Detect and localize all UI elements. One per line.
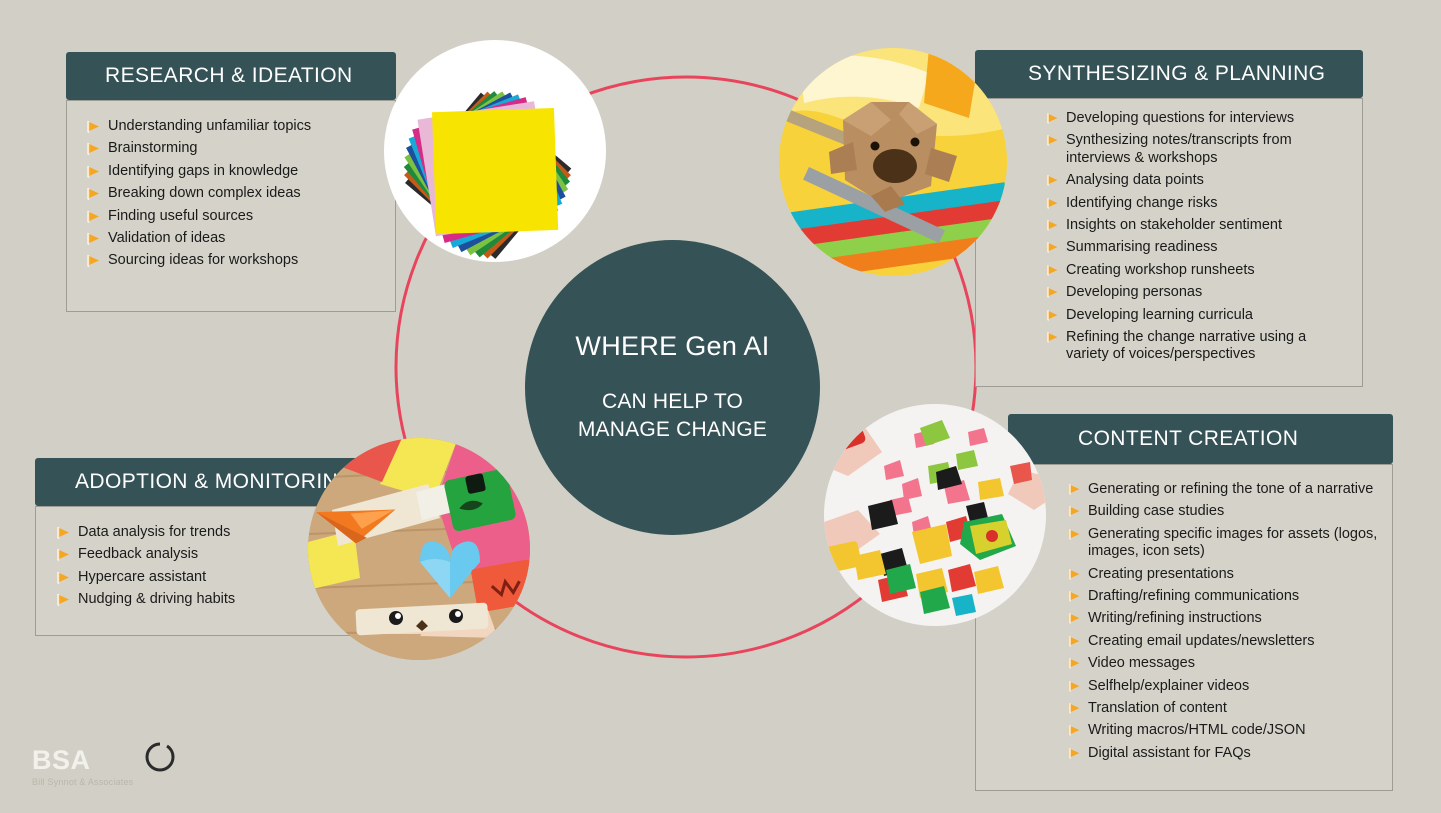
- list-item: Sourcing ideas for workshops: [86, 252, 386, 269]
- list-item-text: Identifying change risks: [1066, 195, 1218, 212]
- arrow-bullet-icon: [56, 571, 72, 585]
- list-item-text: Brainstorming: [108, 140, 197, 157]
- list-item: Identifying change risks: [1046, 195, 1346, 212]
- list-item-text: Insights on stakeholder sentiment: [1066, 217, 1282, 234]
- list-item-text: Digital assistant for FAQs: [1088, 745, 1251, 762]
- arrow-bullet-icon: [1068, 528, 1082, 541]
- hands-folding-origami-shapes-photo: [824, 404, 1046, 626]
- arrow-bullet-icon: [56, 526, 72, 540]
- list-item: Synthesizing notes/transcripts from inte…: [1046, 132, 1346, 167]
- arrow-bullet-icon: [1046, 134, 1060, 147]
- arrow-bullet-icon: [86, 254, 102, 268]
- arrow-bullet-icon: [1046, 286, 1060, 299]
- list-item: Creating workshop runsheets: [1046, 262, 1346, 279]
- list-item-text: Generating specific images for assets (l…: [1088, 526, 1388, 561]
- list-item: Nudging & driving habits: [56, 591, 346, 608]
- brown-paper-origami-bear-photo: [779, 48, 1007, 276]
- list-item: Writing macros/HTML code/JSON: [1068, 722, 1388, 739]
- list-item: Creating email updates/newsletters: [1068, 633, 1388, 650]
- list-item: Video messages: [1068, 655, 1388, 672]
- list-item-text: Data analysis for trends: [78, 524, 230, 541]
- arrow-bullet-icon: [86, 187, 102, 201]
- list-item-text: Validation of ideas: [108, 230, 225, 247]
- panel-synthesizing-header: SYNTHESIZING & PLANNING: [975, 50, 1363, 98]
- panel-research-title: RESEARCH & IDEATION: [105, 64, 353, 88]
- list-item-text: Identifying gaps in knowledge: [108, 163, 298, 180]
- panel-adoption-list: Data analysis for trends Feedback analys…: [56, 524, 346, 614]
- arrow-bullet-icon: [56, 548, 72, 562]
- list-item-text: Translation of content: [1088, 700, 1227, 717]
- photo-adoption-monitoring: [308, 438, 530, 660]
- infographic-canvas: RESEARCH & IDEATION Understanding unfami…: [0, 0, 1441, 813]
- photo-research-ideation: [384, 40, 606, 262]
- arrow-bullet-icon: [1068, 702, 1082, 715]
- list-item-text: Creating presentations: [1088, 566, 1234, 583]
- origami-paper-planes-on-desk-photo: [308, 438, 530, 660]
- arrow-bullet-icon: [1046, 241, 1060, 254]
- arrow-bullet-icon: [86, 210, 102, 224]
- list-item: Building case studies: [1068, 503, 1388, 520]
- list-item: Understanding unfamiliar topics: [86, 118, 386, 135]
- arrow-bullet-icon: [1046, 197, 1060, 210]
- list-item: Developing learning curricula: [1046, 307, 1346, 324]
- arrow-bullet-icon: [86, 165, 102, 179]
- panel-research-list: Understanding unfamiliar topics Brainsto…: [86, 118, 386, 275]
- arrow-bullet-icon: [1068, 680, 1082, 693]
- photo-content-creation: [824, 404, 1046, 626]
- arrow-bullet-icon: [1046, 331, 1060, 344]
- arrow-bullet-icon: [1068, 747, 1082, 760]
- panel-synthesizing-list: Developing questions for interviews Synt…: [1046, 110, 1346, 369]
- list-item-text: Refining the change narrative using a va…: [1066, 329, 1346, 364]
- list-item-text: Video messages: [1088, 655, 1195, 672]
- arrow-bullet-icon: [56, 593, 72, 607]
- arrow-bullet-icon: [86, 232, 102, 246]
- list-item-text: Hypercare assistant: [78, 569, 206, 586]
- arrow-bullet-icon: [1068, 635, 1082, 648]
- list-item-text: Developing personas: [1066, 284, 1202, 301]
- list-item: Analysing data points: [1046, 172, 1346, 189]
- list-item-text: Sourcing ideas for workshops: [108, 252, 298, 269]
- list-item-text: Generating or refining the tone of a nar…: [1088, 481, 1373, 498]
- arrow-bullet-icon: [1068, 505, 1082, 518]
- list-item: Generating specific images for assets (l…: [1068, 526, 1388, 561]
- list-item-text: Analysing data points: [1066, 172, 1204, 189]
- list-item-text: Feedback analysis: [78, 546, 198, 563]
- center-subline-1: CAN HELP TO: [602, 388, 743, 416]
- brand-logo: BSA Bill Synnot & Associates: [32, 742, 175, 791]
- list-item: Selfhelp/explainer videos: [1068, 678, 1388, 695]
- photo-synthesizing-planning: [779, 48, 1007, 276]
- arrow-bullet-icon: [1046, 112, 1060, 125]
- list-item: Writing/refining instructions: [1068, 610, 1388, 627]
- arrow-bullet-icon: [1046, 174, 1060, 187]
- list-item-text: Building case studies: [1088, 503, 1224, 520]
- arrow-bullet-icon: [1068, 568, 1082, 581]
- arrow-bullet-icon: [1068, 612, 1082, 625]
- panel-adoption-title: ADOPTION & MONITORING: [75, 470, 355, 494]
- list-item: Validation of ideas: [86, 230, 386, 247]
- list-item-text: Writing/refining instructions: [1088, 610, 1262, 627]
- list-item-text: Synthesizing notes/transcripts from inte…: [1066, 132, 1346, 167]
- center-circle: WHERE Gen AI CAN HELP TO MANAGE CHANGE: [525, 240, 820, 535]
- list-item: Generating or refining the tone of a nar…: [1068, 481, 1388, 498]
- list-item: Data analysis for trends: [56, 524, 346, 541]
- list-item: Developing questions for interviews: [1046, 110, 1346, 127]
- list-item-text: Selfhelp/explainer videos: [1088, 678, 1249, 695]
- panel-content-title: CONTENT CREATION: [1078, 427, 1298, 451]
- panel-content-list: Generating or refining the tone of a nar…: [1068, 481, 1388, 767]
- list-item: Hypercare assistant: [56, 569, 346, 586]
- list-item: Digital assistant for FAQs: [1068, 745, 1388, 762]
- ring-mark-icon: [145, 742, 175, 777]
- list-item: Brainstorming: [86, 140, 386, 157]
- list-item-text: Nudging & driving habits: [78, 591, 235, 608]
- list-item-text: Drafting/refining communications: [1088, 588, 1299, 605]
- list-item-text: Developing learning curricula: [1066, 307, 1253, 324]
- arrow-bullet-icon: [1068, 590, 1082, 603]
- list-item: Creating presentations: [1068, 566, 1388, 583]
- arrow-bullet-icon: [86, 120, 102, 134]
- panel-content-header: CONTENT CREATION: [1008, 414, 1393, 464]
- list-item: Breaking down complex ideas: [86, 185, 386, 202]
- list-item: Translation of content: [1068, 700, 1388, 717]
- panel-research-header: RESEARCH & IDEATION: [66, 52, 396, 100]
- fanned-colored-paper-stack-photo: [384, 40, 606, 262]
- list-item: Insights on stakeholder sentiment: [1046, 217, 1346, 234]
- panel-synthesizing-title: SYNTHESIZING & PLANNING: [1028, 62, 1325, 86]
- list-item: Summarising readiness: [1046, 239, 1346, 256]
- logo-wordmark: BSA: [32, 747, 133, 774]
- list-item: Finding useful sources: [86, 208, 386, 225]
- arrow-bullet-icon: [1068, 483, 1082, 496]
- list-item-text: Developing questions for interviews: [1066, 110, 1294, 127]
- center-headline: WHERE Gen AI: [575, 331, 769, 362]
- list-item-text: Finding useful sources: [108, 208, 253, 225]
- list-item: Refining the change narrative using a va…: [1046, 329, 1346, 364]
- arrow-bullet-icon: [1046, 264, 1060, 277]
- arrow-bullet-icon: [1068, 724, 1082, 737]
- arrow-bullet-icon: [86, 142, 102, 156]
- logo-tagline: Bill Synnot & Associates: [32, 777, 133, 787]
- list-item-text: Breaking down complex ideas: [108, 185, 301, 202]
- panel-adoption-header: ADOPTION & MONITORING: [35, 458, 365, 506]
- list-item-text: Writing macros/HTML code/JSON: [1088, 722, 1306, 739]
- list-item-text: Summarising readiness: [1066, 239, 1218, 256]
- arrow-bullet-icon: [1046, 309, 1060, 322]
- list-item: Feedback analysis: [56, 546, 346, 563]
- list-item: Drafting/refining communications: [1068, 588, 1388, 605]
- center-subline-2: MANAGE CHANGE: [578, 416, 767, 444]
- arrow-bullet-icon: [1068, 657, 1082, 670]
- list-item-text: Creating workshop runsheets: [1066, 262, 1255, 279]
- arrow-bullet-icon: [1046, 219, 1060, 232]
- list-item-text: Creating email updates/newsletters: [1088, 633, 1314, 650]
- list-item-text: Understanding unfamiliar topics: [108, 118, 311, 135]
- list-item: Developing personas: [1046, 284, 1346, 301]
- list-item: Identifying gaps in knowledge: [86, 163, 386, 180]
